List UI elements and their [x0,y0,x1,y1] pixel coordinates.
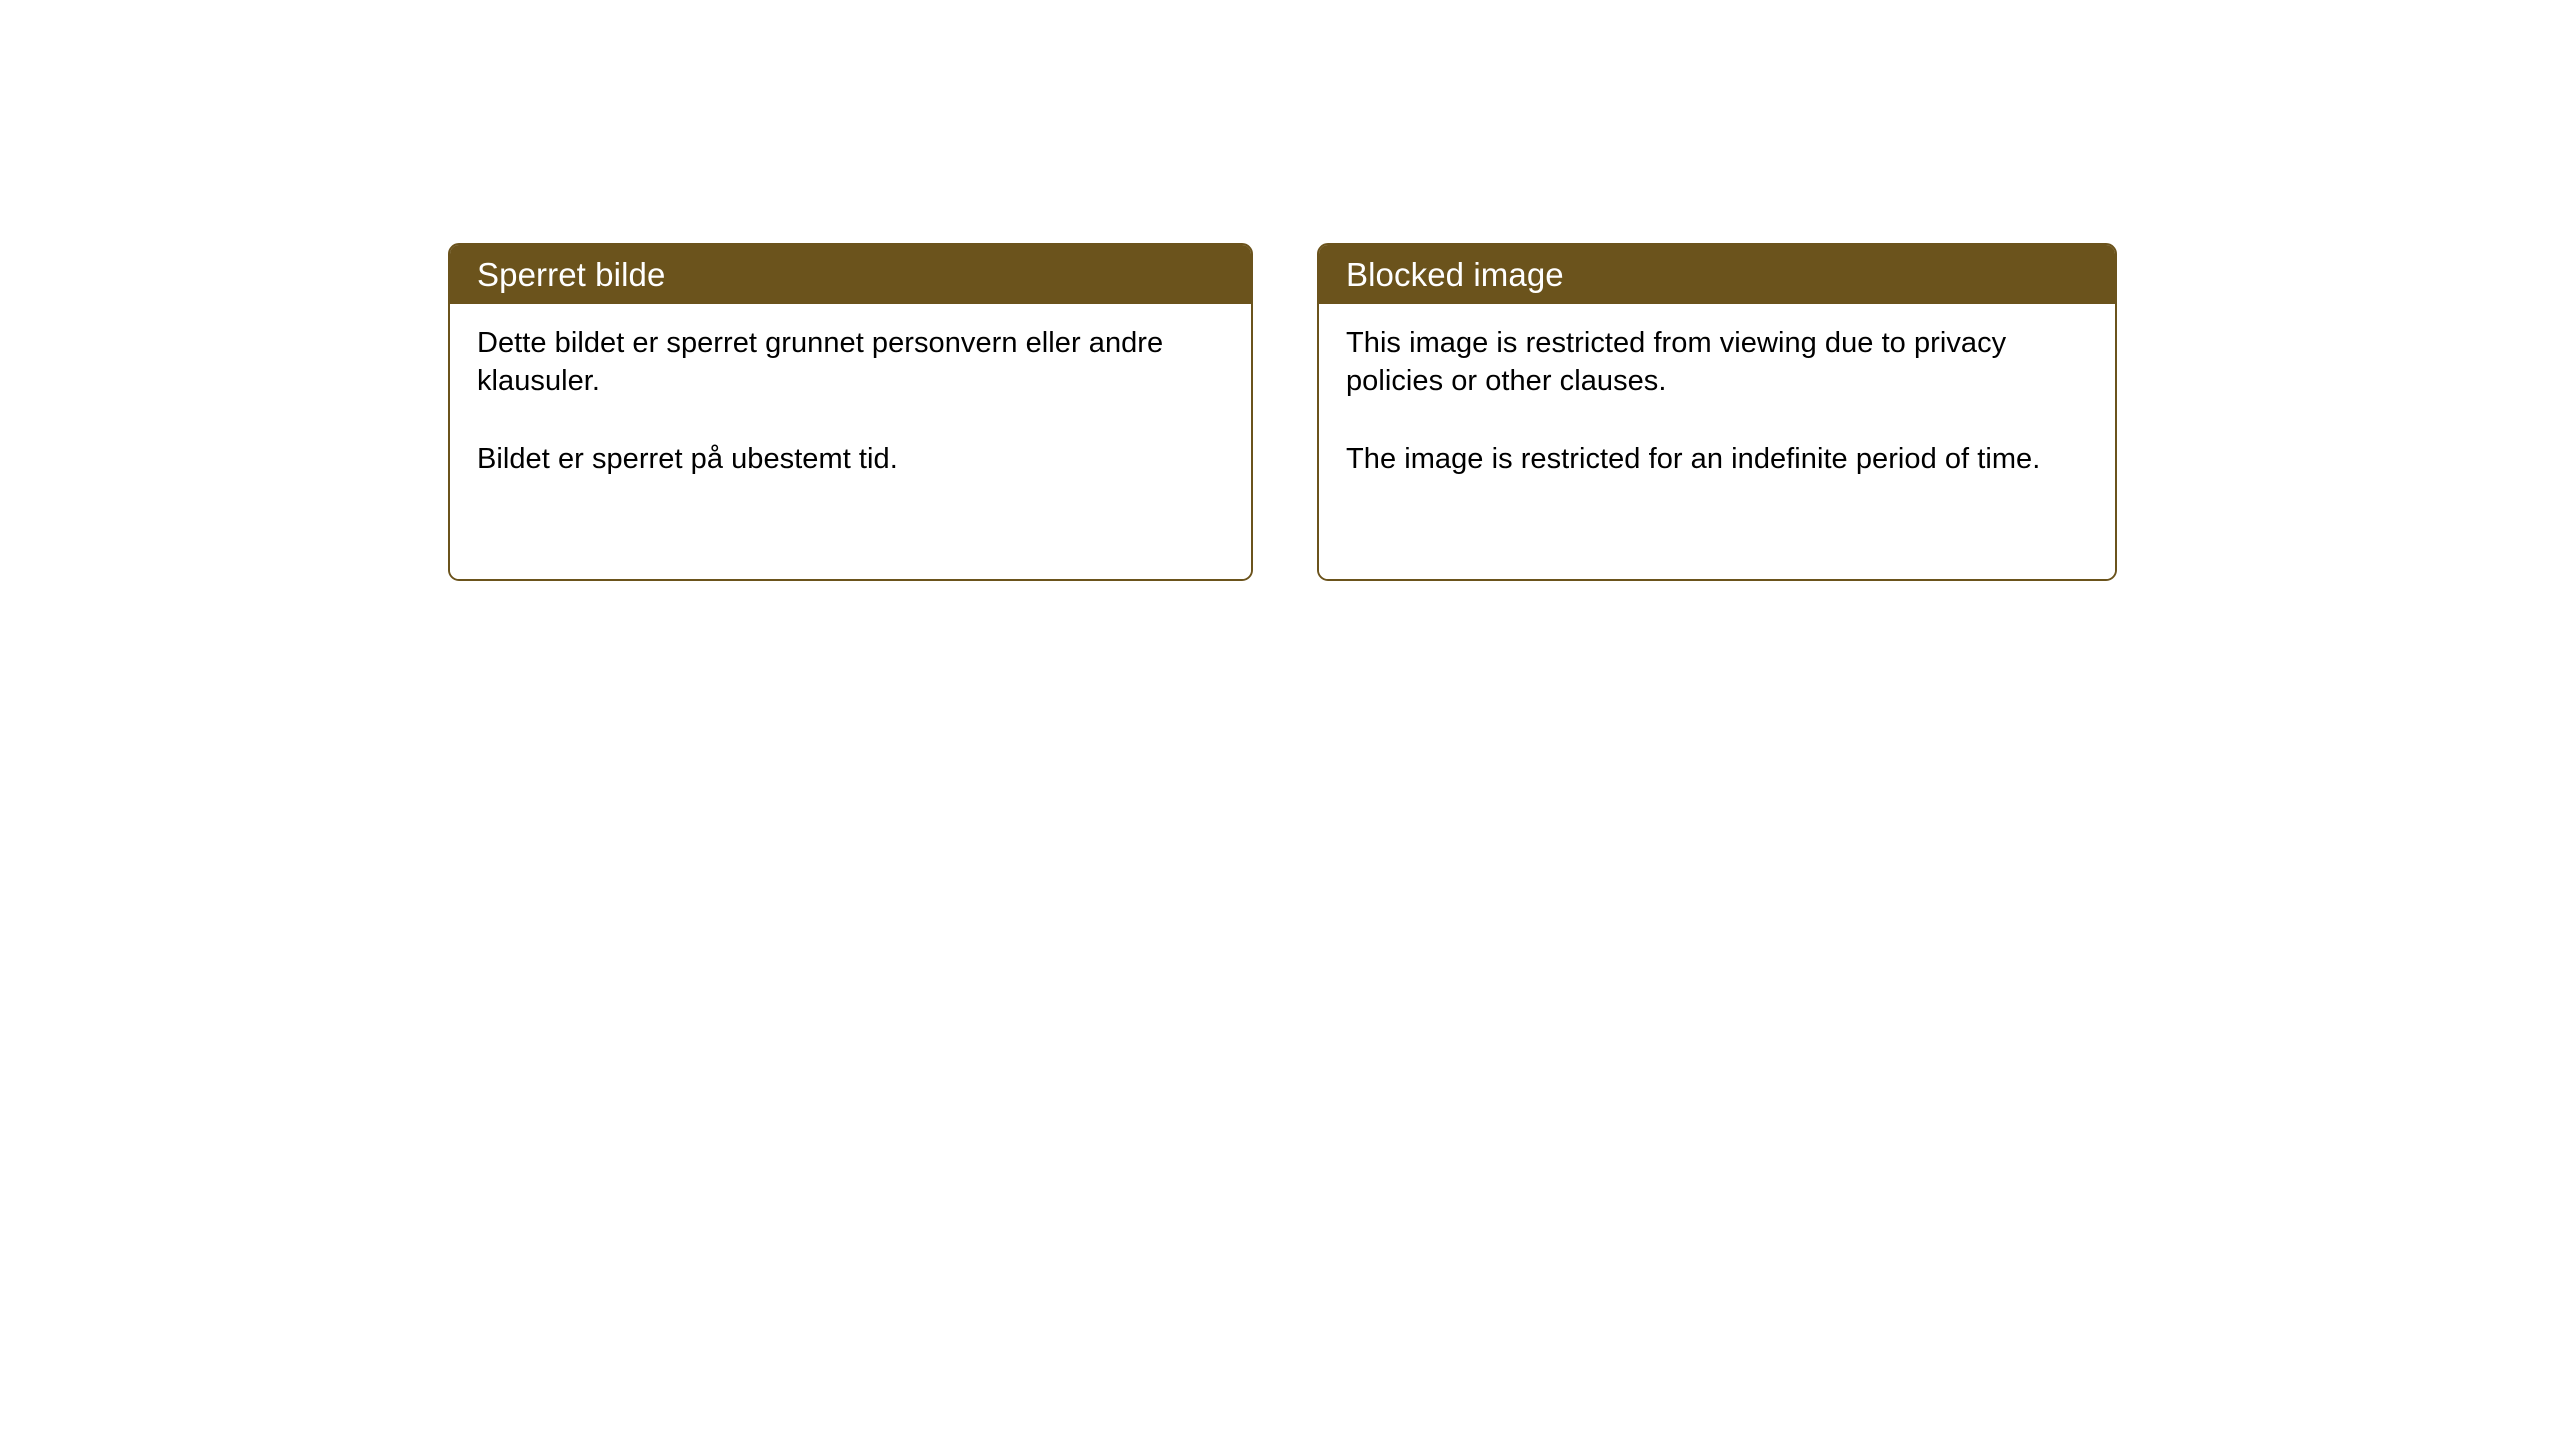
card-paragraph-secondary-english: The image is restricted for an indefinit… [1346,440,2091,478]
blocked-image-notice-card-english: Blocked image This image is restricted f… [1317,243,2117,581]
page-root: Sperret bilde Dette bildet er sperret gr… [0,0,2560,1440]
card-paragraph-secondary-norwegian: Bildet er sperret på ubestemt tid. [477,440,1227,478]
card-body-english: This image is restricted from viewing du… [1319,304,2115,579]
card-title-english: Blocked image [1346,256,1564,294]
card-body-norwegian: Dette bildet er sperret grunnet personve… [450,304,1251,579]
card-header-norwegian: Sperret bilde [450,245,1251,304]
card-paragraph-primary-norwegian: Dette bildet er sperret grunnet personve… [477,324,1227,400]
card-header-english: Blocked image [1319,245,2115,304]
notice-cards-container: Sperret bilde Dette bildet er sperret gr… [448,243,2117,581]
blocked-image-notice-card-norwegian: Sperret bilde Dette bildet er sperret gr… [448,243,1253,581]
card-title-norwegian: Sperret bilde [477,256,665,294]
card-paragraph-primary-english: This image is restricted from viewing du… [1346,324,2091,400]
